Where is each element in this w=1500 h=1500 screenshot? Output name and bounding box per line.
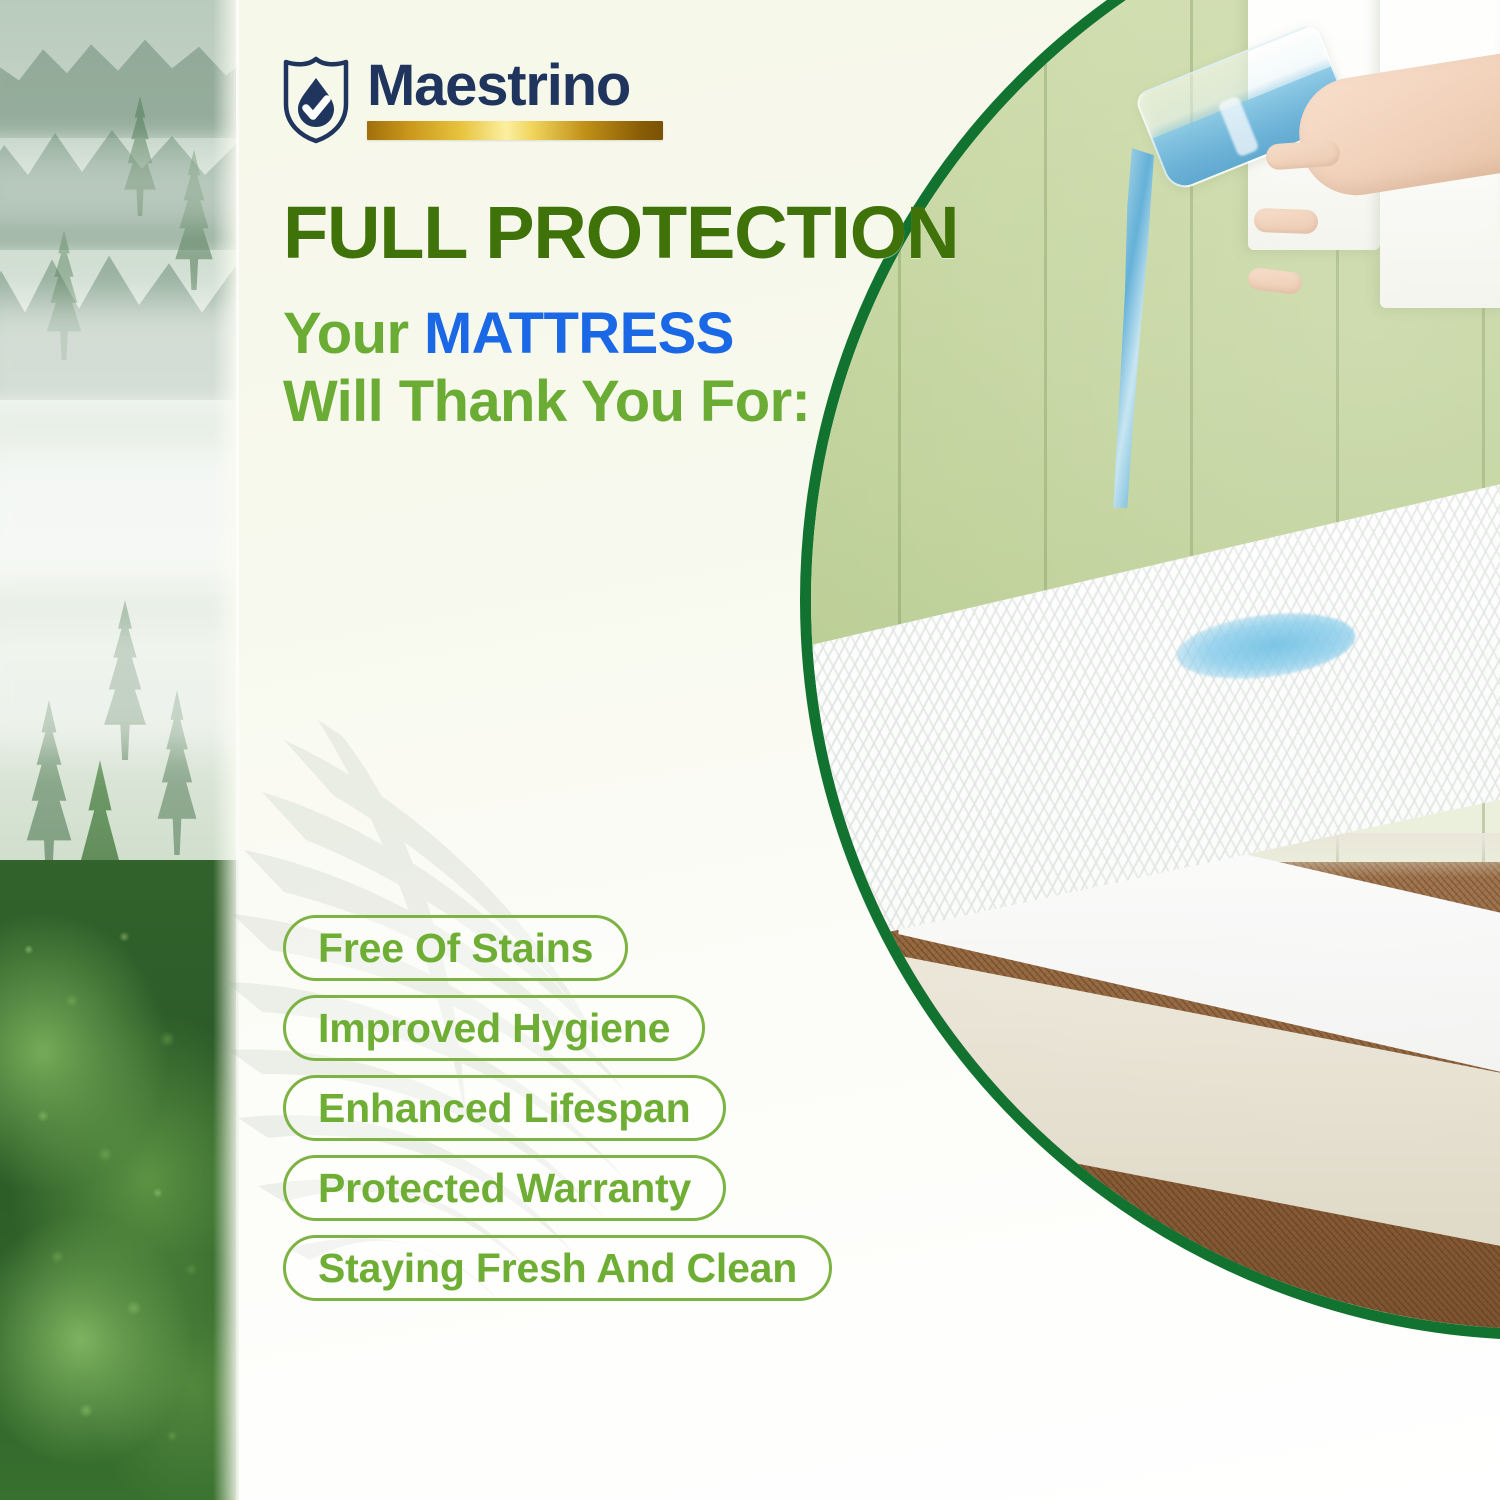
strip-right-edge <box>236 0 239 1500</box>
sub-headline-prefix: Your <box>283 301 424 366</box>
page-title: FULL PROTECTION <box>283 196 958 270</box>
forest-mist <box>0 300 239 420</box>
brand-logo: Maestrino <box>281 56 663 144</box>
finger <box>1265 140 1341 171</box>
forest-mist <box>0 620 239 750</box>
benefit-pill: Staying Fresh And Clean <box>283 1235 832 1301</box>
brand-name: Maestrino <box>367 56 663 115</box>
shield-water-drop-check-icon <box>281 56 351 144</box>
benefit-pill: Improved Hygiene <box>283 995 705 1061</box>
sub-headline-line2: Will Thank You For: <box>283 368 810 436</box>
benefits-list: Free Of Stains Improved Hygiene Enhanced… <box>283 915 832 1301</box>
forest-mist <box>0 440 239 590</box>
benefit-pill: Enhanced Lifespan <box>283 1075 726 1141</box>
forest-photo-strip <box>0 0 239 1500</box>
benefit-pill: Protected Warranty <box>283 1155 726 1221</box>
sub-headline-line1: Your MATTRESS <box>283 300 810 368</box>
brand-text-column: Maestrino <box>367 56 663 140</box>
benefit-pill: Free Of Stains <box>283 915 628 981</box>
foliage-texture <box>0 860 239 1500</box>
gold-underline-bar <box>367 121 663 140</box>
forest-mist <box>0 150 239 230</box>
sub-headline: Your MATTRESS Will Thank You For: <box>283 300 810 437</box>
sub-headline-accent: MATTRESS <box>424 301 734 366</box>
poster-canvas: Maestrino Maestrino FULL PROTECTION Your… <box>0 0 1500 1500</box>
forest-lower-canopy <box>0 860 239 1500</box>
finger <box>1254 208 1319 234</box>
